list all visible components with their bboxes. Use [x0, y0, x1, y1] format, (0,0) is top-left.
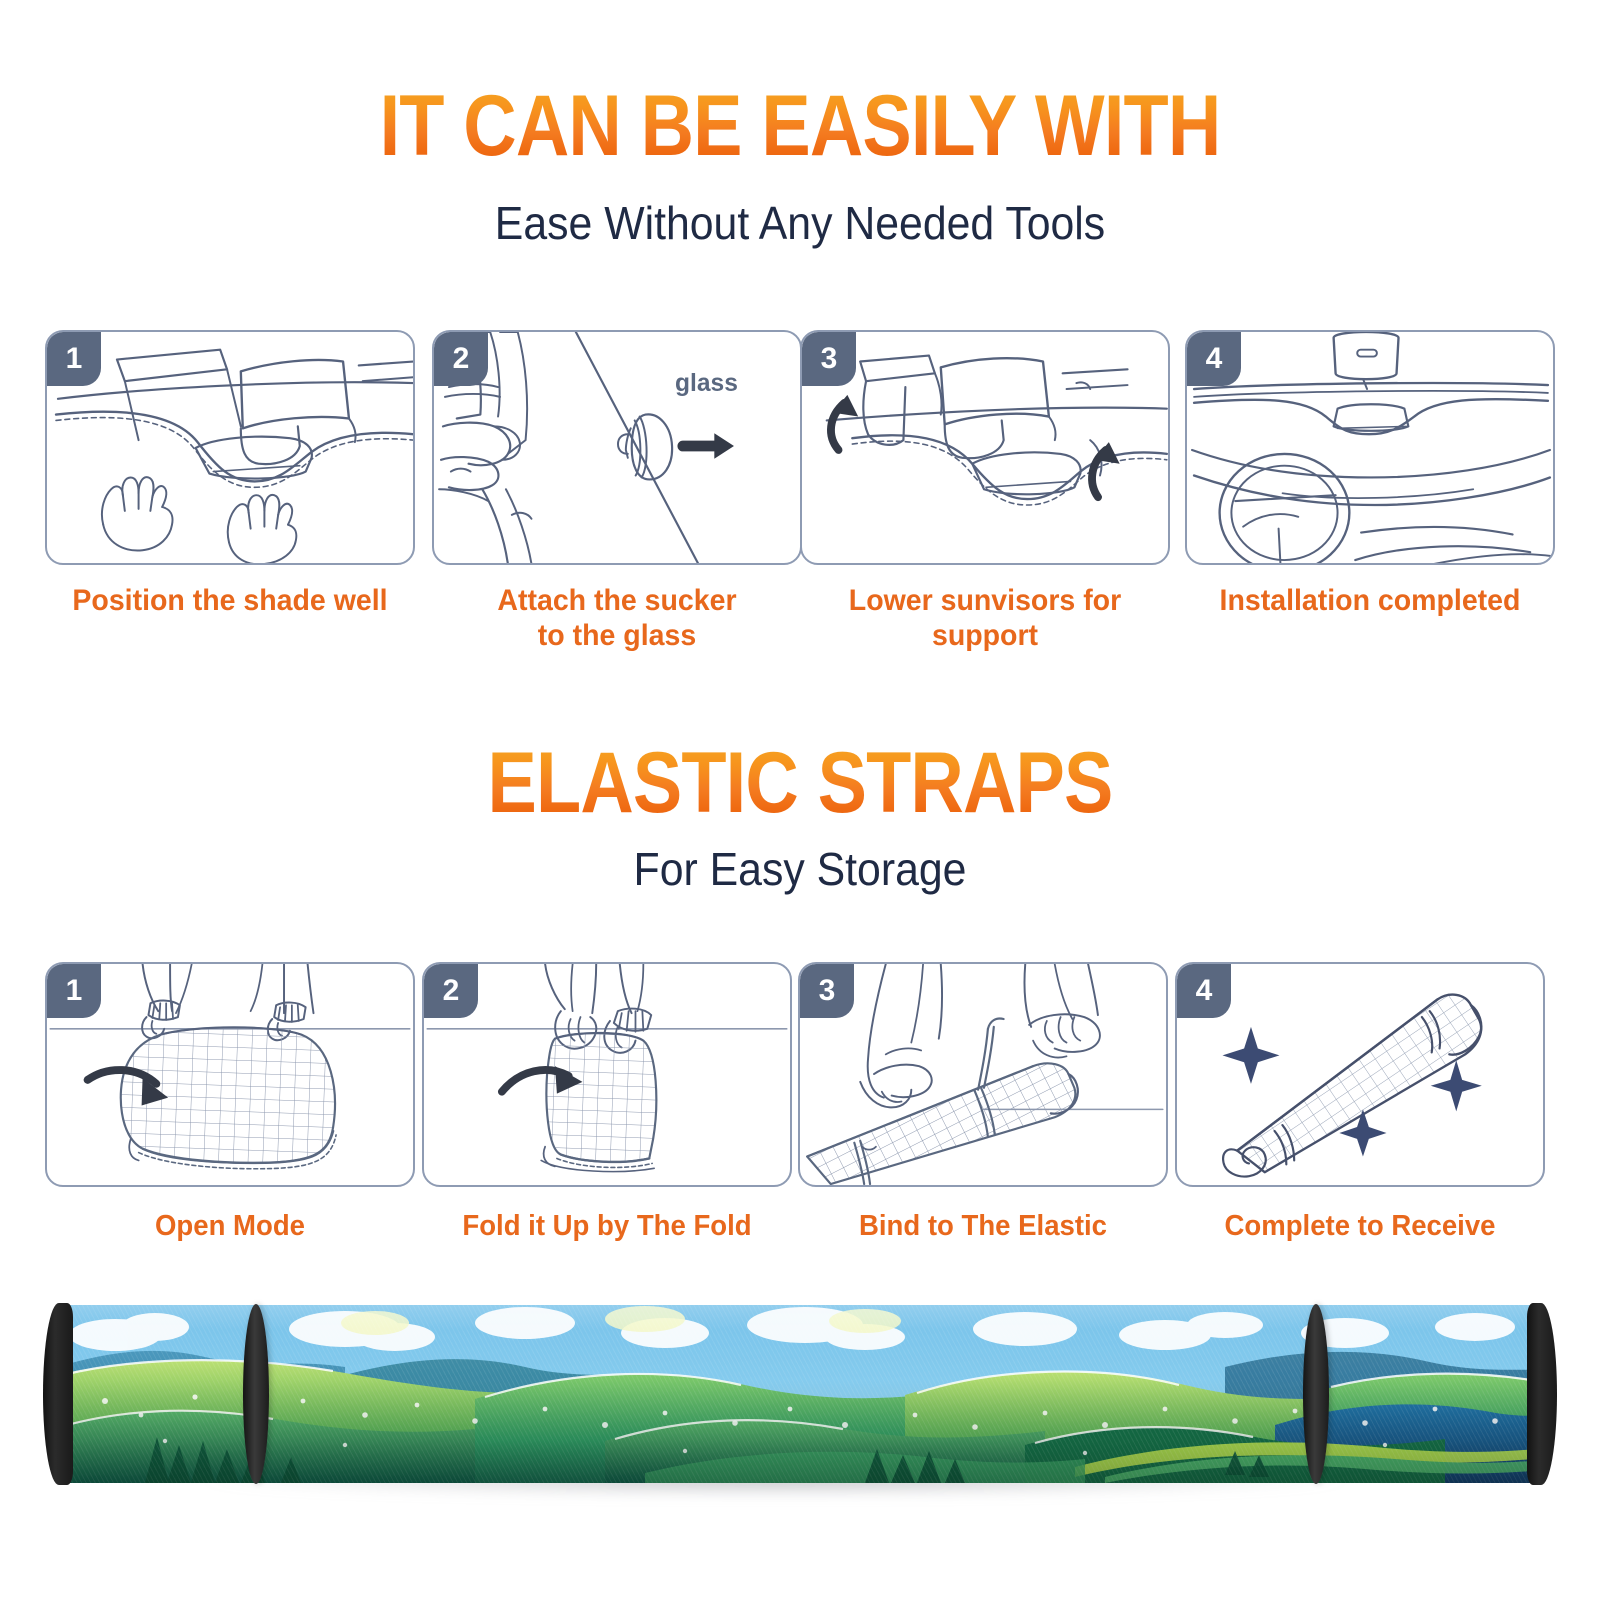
- step-panel: 4: [1185, 330, 1555, 565]
- step-caption: Attach the sucker to the glass: [441, 583, 793, 654]
- storage-step-3: 3: [798, 962, 1168, 1243]
- step-number-badge: 4: [1177, 964, 1231, 1018]
- step-panel: 1: [45, 330, 415, 565]
- hands-folding-shade-icon: [424, 964, 790, 1185]
- install-step-1: 1: [45, 330, 415, 618]
- elastic-strap: [243, 1304, 269, 1484]
- section-2-subtitle: For Easy Storage: [56, 842, 1544, 896]
- step-number-badge: 4: [1187, 332, 1241, 386]
- step-panel: 3: [798, 962, 1168, 1187]
- step-number-badge: 3: [802, 332, 856, 386]
- install-step-2: 2: [432, 330, 802, 654]
- step-number-badge: 1: [47, 964, 101, 1018]
- section-1-subtitle: Ease Without Any Needed Tools: [56, 196, 1544, 250]
- step-number-badge: 1: [47, 332, 101, 386]
- step-number-badge: 3: [800, 964, 854, 1018]
- rolled-shade-elastic-bind-icon: [800, 964, 1166, 1185]
- product-rolled-sunshade: [45, 1305, 1555, 1483]
- storage-step-1: 1: [45, 962, 415, 1243]
- step-caption: Bind to The Elastic: [807, 1209, 1159, 1243]
- roll-end-cap-left: [43, 1303, 73, 1485]
- step-panel: 1: [45, 962, 415, 1187]
- step-panel: 4: [1175, 962, 1545, 1187]
- installed-windshield-view-icon: [1187, 332, 1553, 563]
- sunvisors-rotate-arrows-icon: [802, 332, 1168, 563]
- hand-suction-cup-glass-icon: glass: [434, 332, 800, 563]
- step-panel: 2: [422, 962, 792, 1187]
- rolled-shade-sparkles-icon: [1177, 964, 1543, 1185]
- step-panel: 3: [800, 330, 1170, 565]
- step-caption: Fold it Up by The Fold: [431, 1209, 783, 1243]
- step-number-badge: 2: [424, 964, 478, 1018]
- elastic-strap: [1303, 1304, 1329, 1484]
- step-number-badge: 2: [434, 332, 488, 386]
- install-step-3: 3: [800, 330, 1170, 654]
- step-caption: Installation completed: [1194, 583, 1546, 618]
- install-step-4: 4: [1185, 330, 1555, 618]
- infographic-page: IT CAN BE EASILY WITH Ease Without Any N…: [0, 0, 1600, 1600]
- glass-label: glass: [675, 370, 738, 397]
- hands-holding-open-shade-icon: [47, 964, 413, 1185]
- car-interior-hands-icon: [47, 332, 413, 563]
- step-panel: 2: [432, 330, 802, 565]
- step-caption: Lower sunvisors for support: [809, 583, 1161, 654]
- section-1-headline: IT CAN BE EASILY WITH: [112, 83, 1488, 169]
- step-caption: Open Mode: [54, 1209, 406, 1243]
- storage-step-2: 2: [422, 962, 792, 1243]
- step-caption: Position the shade well: [54, 583, 406, 618]
- step-caption: Complete to Receive: [1184, 1209, 1536, 1243]
- section-2-headline: ELASTIC STRAPS: [112, 740, 1488, 826]
- storage-step-4: 4: [1175, 962, 1545, 1243]
- sparkle-icon: [1222, 1027, 1279, 1084]
